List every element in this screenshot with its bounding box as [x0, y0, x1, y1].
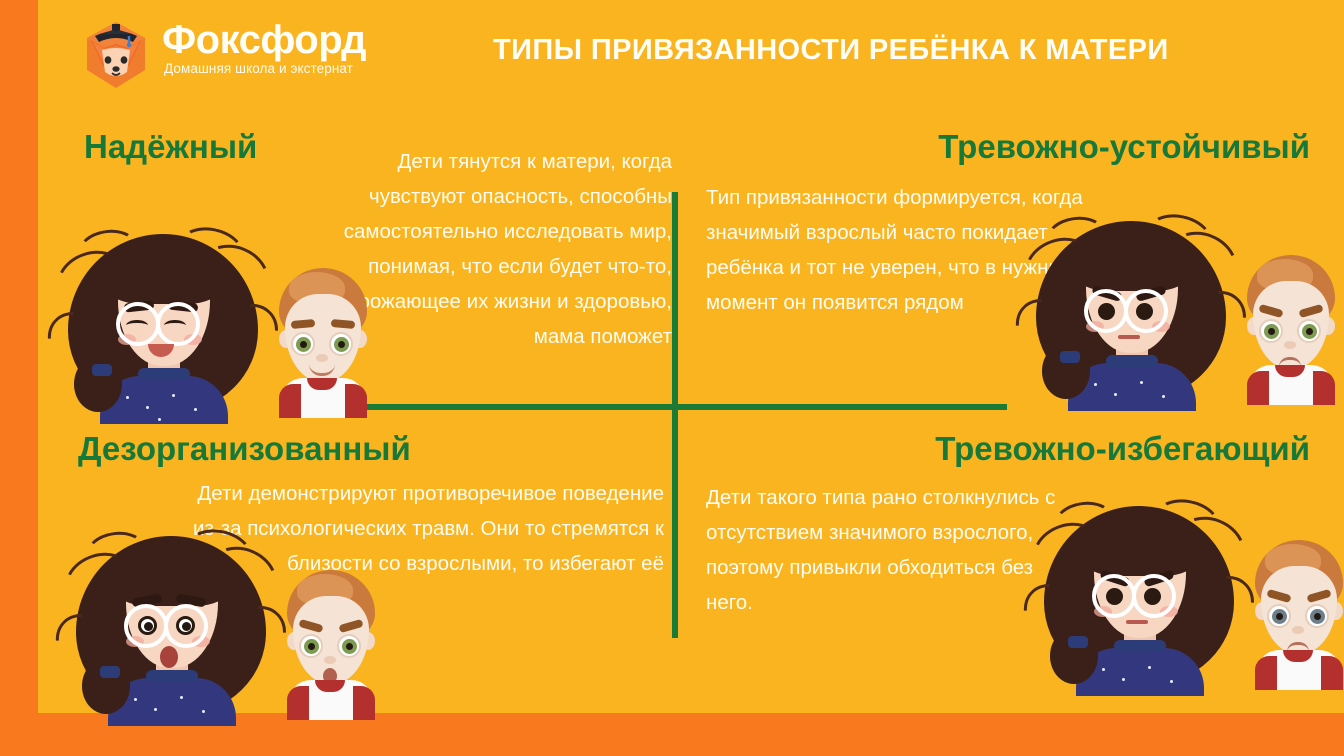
quadrant-body: Дети такого типа рано столкнулись с отсу…: [706, 480, 1062, 620]
illustration-mother-and-child-sad: [1036, 500, 1344, 690]
infographic-poster: Фоксфорд Домашняя школа и экстернат ТИПЫ…: [0, 0, 1344, 756]
illustration-mother-and-child-shocked: [68, 530, 383, 720]
illustration-mother-and-child-worried: [1028, 215, 1343, 405]
child-figure-worried: [1239, 255, 1343, 405]
mother-figure-shocked: [68, 530, 273, 720]
brand-tagline: Домашняя школа и экстернат: [162, 61, 366, 76]
mother-figure-happy: [60, 228, 265, 418]
child-figure-shocked: [279, 570, 383, 720]
quadrant-heading: Тревожно-устойчивый: [688, 128, 1344, 166]
quadrant-heading: Тревожно-избегающий: [688, 430, 1344, 468]
illustration-mother-and-child-happy: [60, 228, 375, 418]
fox-graduate-icon: [83, 20, 149, 90]
poster-header: Фоксфорд Домашняя школа и экстернат ТИПЫ…: [38, 0, 1344, 108]
brand-logo[interactable]: Фоксфорд Домашняя школа и экстернат: [83, 18, 366, 90]
brand-wordmark: Фоксфорд: [162, 18, 366, 62]
child-figure-happy: [271, 268, 375, 418]
quadrant-heading: Дезорганизованный: [58, 430, 672, 468]
divider-vertical: [672, 192, 678, 638]
page-title: ТИПЫ ПРИВЯЗАННОСТИ РЕБЁНКА К МАТЕРИ: [493, 34, 1169, 67]
child-figure-sad: [1247, 540, 1344, 690]
poster-canvas: Фоксфорд Домашняя школа и экстернат ТИПЫ…: [38, 0, 1344, 713]
mother-figure-sad: [1036, 500, 1241, 690]
divider-horizontal: [340, 404, 1007, 410]
mother-figure-worried: [1028, 215, 1233, 405]
